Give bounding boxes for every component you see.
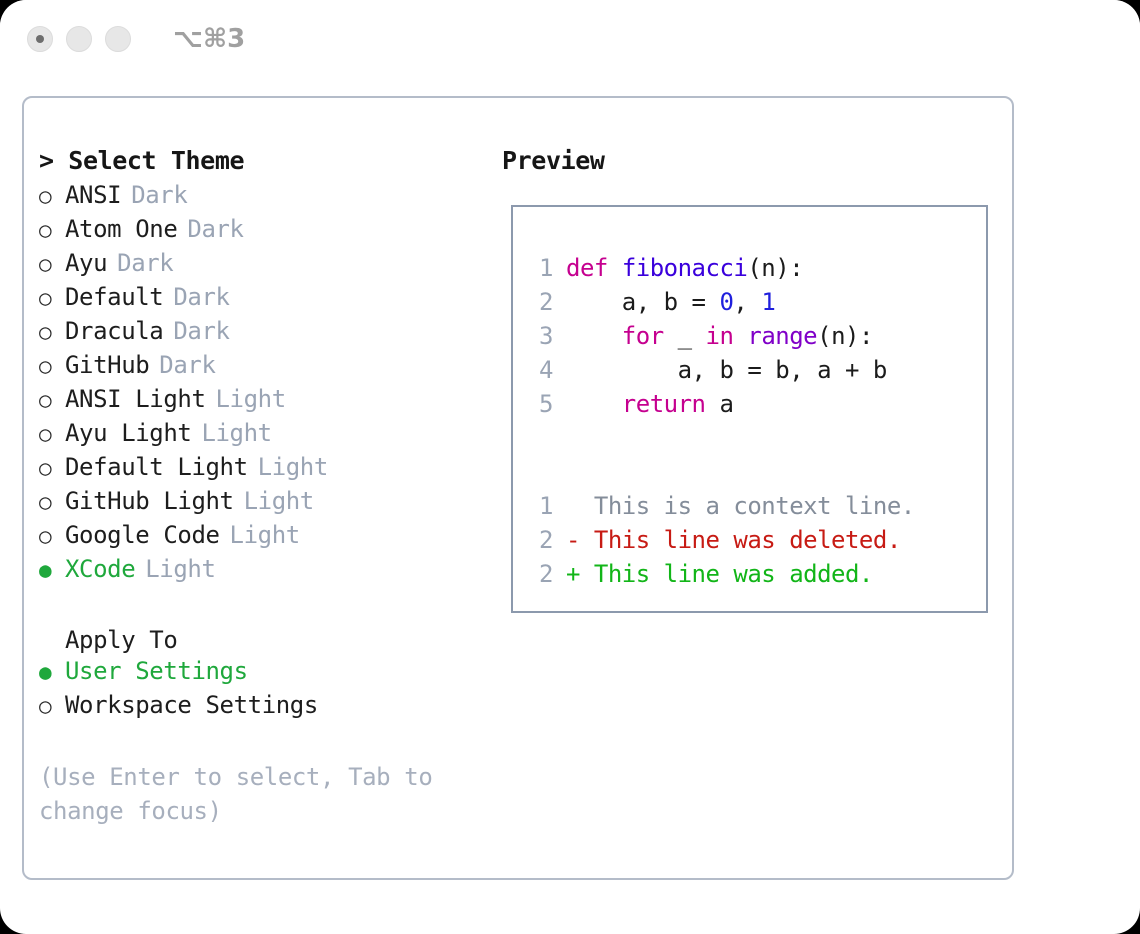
- line-number: 1: [527, 489, 553, 523]
- window-minimize-button[interactable]: [66, 26, 92, 52]
- radio-unselected-icon: ○: [39, 254, 65, 275]
- theme-name-label: XCode: [65, 555, 135, 583]
- apply-to-label: Workspace Settings: [65, 691, 318, 719]
- code-token: range: [747, 322, 817, 350]
- theme-list-item[interactable]: ○GitHubDark: [39, 351, 489, 385]
- theme-kind-badge: Light: [145, 555, 215, 583]
- code-token: in: [706, 322, 734, 350]
- keyboard-shortcut-label: ⌥⌘3: [173, 24, 245, 54]
- theme-kind-badge: Light: [258, 453, 328, 481]
- theme-name-label: GitHub Light: [65, 487, 234, 515]
- code-line: 4 a, b = b, a + b: [527, 353, 980, 387]
- preview-heading: Preview: [502, 146, 1002, 175]
- diff-line: 1 This is a context line.: [527, 489, 980, 523]
- theme-name-label: Dracula: [65, 317, 163, 345]
- radio-selected-icon: ●: [39, 560, 65, 581]
- line-number: 2: [527, 557, 553, 591]
- panel-body: > Select Theme ○ANSIDark○Atom OneDark○Ay…: [24, 98, 1012, 878]
- theme-list: ○ANSIDark○Atom OneDark○AyuDark○DefaultDa…: [39, 181, 489, 589]
- diff-text: + This line was added.: [566, 557, 873, 591]
- theme-name-label: ANSI Light: [65, 385, 206, 413]
- theme-list-item[interactable]: ○Default LightLight: [39, 453, 489, 487]
- theme-name-label: Ayu Light: [65, 419, 191, 447]
- line-number: 3: [527, 319, 553, 353]
- code-token: fibonacci: [622, 254, 748, 282]
- code-spacer: [527, 455, 980, 489]
- theme-name-label: Default Light: [65, 453, 248, 481]
- theme-kind-badge: Dark: [117, 249, 173, 277]
- theme-list-item[interactable]: ○ANSIDark: [39, 181, 489, 215]
- radio-unselected-icon: ○: [39, 220, 65, 241]
- theme-kind-badge: Light: [216, 385, 286, 413]
- theme-list-item[interactable]: ○GitHub LightLight: [39, 487, 489, 521]
- line-number: 2: [527, 523, 553, 557]
- active-indicator-dot: [36, 35, 44, 43]
- code-token: def: [566, 254, 608, 282]
- apply-to-heading: Apply To: [65, 626, 489, 654]
- diff-line: 2- This line was deleted.: [527, 523, 980, 557]
- main-panel: > Select Theme ○ANSIDark○Atom OneDark○Ay…: [22, 96, 1014, 880]
- theme-list-item[interactable]: ○Google CodeLight: [39, 521, 489, 555]
- theme-kind-badge: Light: [244, 487, 314, 515]
- theme-name-label: ANSI: [65, 181, 121, 209]
- theme-kind-badge: Dark: [187, 215, 243, 243]
- code-token: ,: [733, 288, 761, 316]
- diff-text: - This line was deleted.: [566, 523, 901, 557]
- code-token: a: [706, 390, 734, 418]
- code-text: for _ in range(n):: [566, 319, 873, 353]
- code-line: 1def fibonacci(n):: [527, 251, 980, 285]
- code-sample: 1def fibonacci(n):2 a, b = 0, 13 for _ i…: [527, 251, 980, 591]
- diff-text: This is a context line.: [566, 489, 915, 523]
- keyboard-hint-text: (Use Enter to select, Tab to change focu…: [39, 760, 459, 828]
- code-line: 3 for _ in range(n):: [527, 319, 980, 353]
- radio-unselected-icon: ○: [39, 424, 65, 445]
- theme-list-item[interactable]: ○AyuDark: [39, 249, 489, 283]
- code-token: (n):: [817, 322, 873, 350]
- code-token: [566, 390, 622, 418]
- code-token: a, b = b, a + b: [566, 356, 887, 384]
- code-token: 1: [761, 288, 775, 316]
- line-number: 1: [527, 251, 553, 285]
- line-number: 5: [527, 387, 553, 421]
- window-close-button[interactable]: [27, 26, 53, 52]
- apply-to-option[interactable]: ○Workspace Settings: [39, 691, 489, 725]
- theme-name-label: GitHub: [65, 351, 149, 379]
- theme-kind-badge: Dark: [131, 181, 187, 209]
- radio-unselected-icon: ○: [39, 322, 65, 343]
- radio-unselected-icon: ○: [39, 696, 65, 717]
- theme-name-label: Ayu: [65, 249, 107, 277]
- title-bar: ⌥⌘3: [0, 0, 1140, 78]
- theme-list-item[interactable]: ○DefaultDark: [39, 283, 489, 317]
- line-number: 2: [527, 285, 553, 319]
- code-token: (n):: [747, 254, 803, 282]
- window-zoom-button[interactable]: [105, 26, 131, 52]
- radio-unselected-icon: ○: [39, 356, 65, 377]
- theme-name-label: Default: [65, 283, 163, 311]
- code-spacer: [527, 421, 980, 455]
- apply-to-section: Apply To ●User Settings○Workspace Settin…: [39, 626, 489, 725]
- radio-unselected-icon: ○: [39, 492, 65, 513]
- theme-kind-badge: Dark: [173, 317, 229, 345]
- theme-list-item[interactable]: ○Atom OneDark: [39, 215, 489, 249]
- radio-unselected-icon: ○: [39, 526, 65, 547]
- line-number: 4: [527, 353, 553, 387]
- theme-kind-badge: Dark: [173, 283, 229, 311]
- theme-kind-badge: Light: [201, 419, 271, 447]
- window-controls: [27, 26, 131, 52]
- radio-unselected-icon: ○: [39, 390, 65, 411]
- radio-unselected-icon: ○: [39, 458, 65, 479]
- theme-list-item[interactable]: ○Ayu LightLight: [39, 419, 489, 453]
- diff-line: 2+ This line was added.: [527, 557, 980, 591]
- apply-to-option[interactable]: ●User Settings: [39, 657, 489, 691]
- code-token: [733, 322, 747, 350]
- code-line: 5 return a: [527, 387, 980, 421]
- theme-selector: > Select Theme ○ANSIDark○Atom OneDark○Ay…: [39, 146, 489, 589]
- radio-unselected-icon: ○: [39, 186, 65, 207]
- theme-list-item[interactable]: ○DraculaDark: [39, 317, 489, 351]
- code-token: for: [622, 322, 664, 350]
- theme-list-item[interactable]: ○ANSI LightLight: [39, 385, 489, 419]
- theme-name-label: Google Code: [65, 521, 220, 549]
- apply-to-label: User Settings: [65, 657, 248, 685]
- code-line: 2 a, b = 0, 1: [527, 285, 980, 319]
- select-theme-heading: > Select Theme: [39, 146, 489, 175]
- radio-unselected-icon: ○: [39, 288, 65, 309]
- code-text: a, b = b, a + b: [566, 353, 887, 387]
- code-text: a, b = 0, 1: [566, 285, 775, 319]
- apply-to-list: ●User Settings○Workspace Settings: [39, 657, 489, 725]
- code-token: [566, 322, 622, 350]
- theme-list-item[interactable]: ●XCodeLight: [39, 555, 489, 589]
- preview-box: 1def fibonacci(n):2 a, b = 0, 13 for _ i…: [511, 205, 988, 613]
- theme-name-label: Atom One: [65, 215, 177, 243]
- radio-selected-icon: ●: [39, 662, 65, 683]
- theme-kind-badge: Light: [230, 521, 300, 549]
- code-token: [608, 254, 622, 282]
- code-token: return: [622, 390, 706, 418]
- code-token: a, b =: [566, 288, 719, 316]
- preview-section: Preview 1def fibonacci(n):2 a, b = 0, 13…: [502, 146, 1002, 175]
- code-text: return a: [566, 387, 733, 421]
- code-token: 0: [719, 288, 733, 316]
- theme-kind-badge: Dark: [159, 351, 215, 379]
- code-token: _: [664, 322, 706, 350]
- code-text: def fibonacci(n):: [566, 251, 803, 285]
- app-window: ⌥⌘3 > Select Theme ○ANSIDark○Atom OneDar…: [0, 0, 1140, 934]
